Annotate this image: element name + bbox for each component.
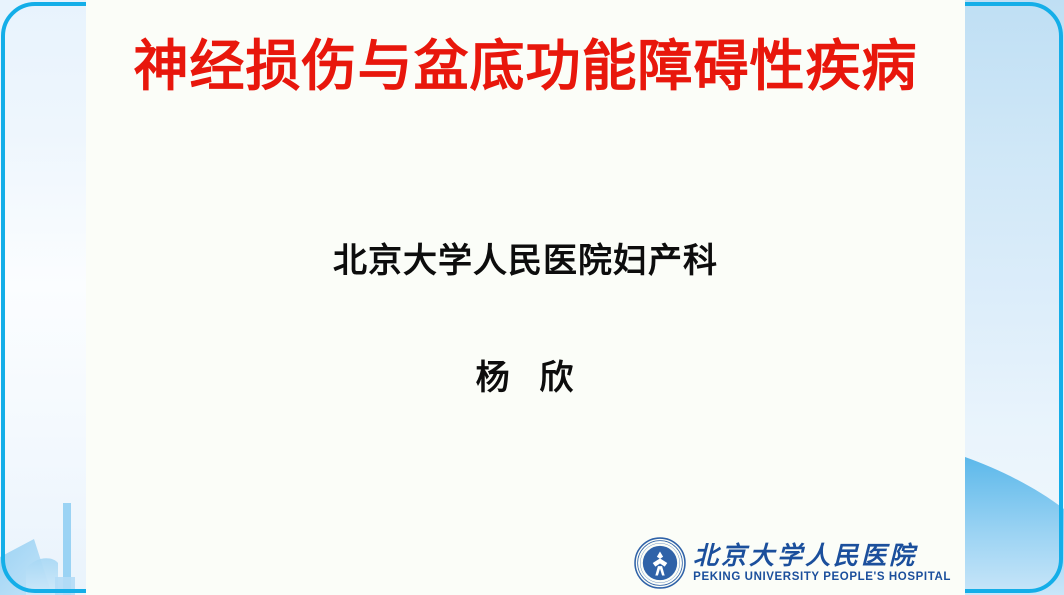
presentation-slide: 神经损伤与盆底功能障碍性疾病 北京大学人民医院妇产科 杨 欣 北京大学人民医院 … — [0, 0, 1064, 595]
slide-presenter-name: 杨 欣 — [86, 350, 965, 399]
hospital-name-en: PEKING UNIVERSITY PEOPLE'S HOSPITAL — [693, 572, 951, 584]
decorative-wave-right — [965, 405, 1064, 595]
decorative-band-right — [965, 0, 1064, 595]
decorative-shapes-left — [0, 465, 86, 595]
hospital-name-cn: 北京大学人民医院 — [693, 543, 917, 568]
hospital-logo: 北京大学人民医院 PEKING UNIVERSITY PEOPLE'S HOSP… — [634, 537, 951, 589]
hospital-seal-icon — [634, 537, 686, 589]
slide-canvas: 神经损伤与盆底功能障碍性疾病 北京大学人民医院妇产科 杨 欣 北京大学人民医院 … — [86, 0, 965, 595]
hospital-logo-text: 北京大学人民医院 PEKING UNIVERSITY PEOPLE'S HOSP… — [693, 543, 951, 584]
slide-title: 神经损伤与盆底功能障碍性疾病 — [86, 36, 965, 97]
decorative-band-left — [0, 0, 86, 595]
slide-subtitle-affiliation: 北京大学人民医院妇产科 — [86, 233, 965, 282]
